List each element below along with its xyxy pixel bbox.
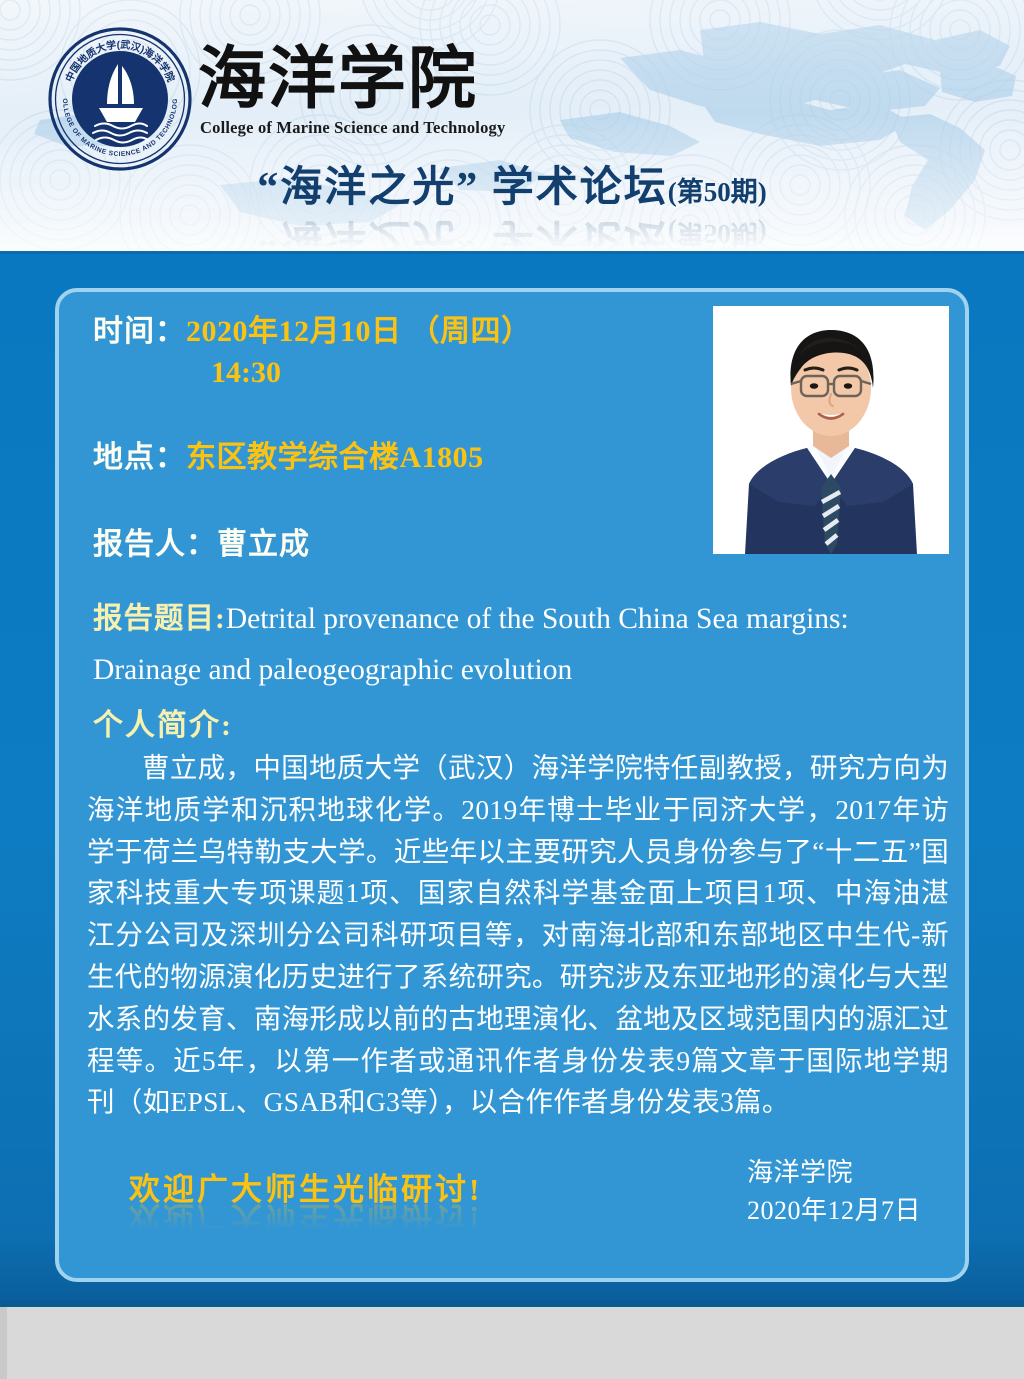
signature-organization: 海洋学院 bbox=[747, 1154, 921, 1192]
welcome-message-block: 欢迎广大师生光临研讨! bbox=[129, 1164, 559, 1209]
body-bottom-divider bbox=[0, 1300, 1024, 1307]
brand-english-subtitle: College of Marine Science and Technology bbox=[200, 118, 500, 138]
talk-title-line-1: Detrital provenance of the South China S… bbox=[226, 603, 849, 635]
speaker-portrait bbox=[713, 306, 949, 554]
speaker-label: 报告人： bbox=[93, 525, 217, 565]
event-details-block: 时间： 2020年12月10日 （周四） 14:30 地点： 东区教学综合楼A1… bbox=[93, 306, 713, 565]
brand-cn-text: 海洋学院 bbox=[198, 39, 478, 119]
place-label: 地点： bbox=[93, 438, 186, 478]
time-value-second-line: 14:30 bbox=[211, 352, 713, 394]
talk-title-block: 报告题目:Detrital provenance of the South Ch… bbox=[93, 594, 951, 695]
event-place-row: 地点： 东区教学综合楼A1805 bbox=[93, 438, 713, 478]
college-logo: 2016 中国地质大学(武汉)海洋学院 COLLEGE OF MARINE SC… bbox=[47, 26, 193, 172]
talk-title-label: 报告题目: bbox=[93, 603, 226, 635]
brand-calligraphy-icon: 海洋学院 bbox=[198, 32, 498, 122]
welcome-message: 欢迎广大师生光临研讨! bbox=[129, 1164, 559, 1209]
speaker-portrait-image bbox=[713, 306, 949, 554]
body-top-divider bbox=[0, 251, 1024, 254]
bio-paragraph: 曹立成，中国地质大学（武汉）海洋学院特任副教授，研究方向为海洋地质学和沉积地球化… bbox=[87, 747, 949, 1123]
time-label: 时间： bbox=[93, 312, 186, 352]
time-value: 2020年12月10日 （周四） bbox=[186, 312, 532, 352]
event-time-row: 时间： 2020年12月10日 （周四） bbox=[93, 312, 713, 352]
brand-calligraphy: 海洋学院 bbox=[198, 32, 498, 122]
bio-heading: 个人简介: bbox=[93, 700, 233, 744]
poster-header: 2016 中国地质大学(武汉)海洋学院 COLLEGE OF MARINE SC… bbox=[0, 0, 1024, 251]
speaker-value: 曹立成 bbox=[217, 525, 310, 565]
content-panel: 时间： 2020年12月10日 （周四） 14:30 地点： 东区教学综合楼A1… bbox=[55, 288, 969, 1282]
page-gray-footer bbox=[0, 1307, 1024, 1379]
place-value: 东区教学综合楼A1805 bbox=[186, 438, 484, 478]
forum-title-block: “海洋之光” 学术论坛(第50期) bbox=[0, 166, 1024, 210]
forum-title-main: “海洋之光” 学术论坛 bbox=[257, 165, 668, 211]
college-logo-icon: 2016 中国地质大学(武汉)海洋学院 COLLEGE OF MARINE SC… bbox=[47, 26, 193, 172]
signature-date: 2020年12月7日 bbox=[747, 1192, 921, 1230]
talk-title-line-2: Drainage and paleogeographic evolution bbox=[93, 645, 951, 696]
poster-signature: 海洋学院 2020年12月7日 bbox=[747, 1154, 921, 1229]
poster-root: 2016 中国地质大学(武汉)海洋学院 COLLEGE OF MARINE SC… bbox=[0, 0, 1024, 1379]
event-speaker-row: 报告人： 曹立成 bbox=[93, 525, 713, 565]
forum-issue-number: (第50期) bbox=[668, 177, 767, 207]
